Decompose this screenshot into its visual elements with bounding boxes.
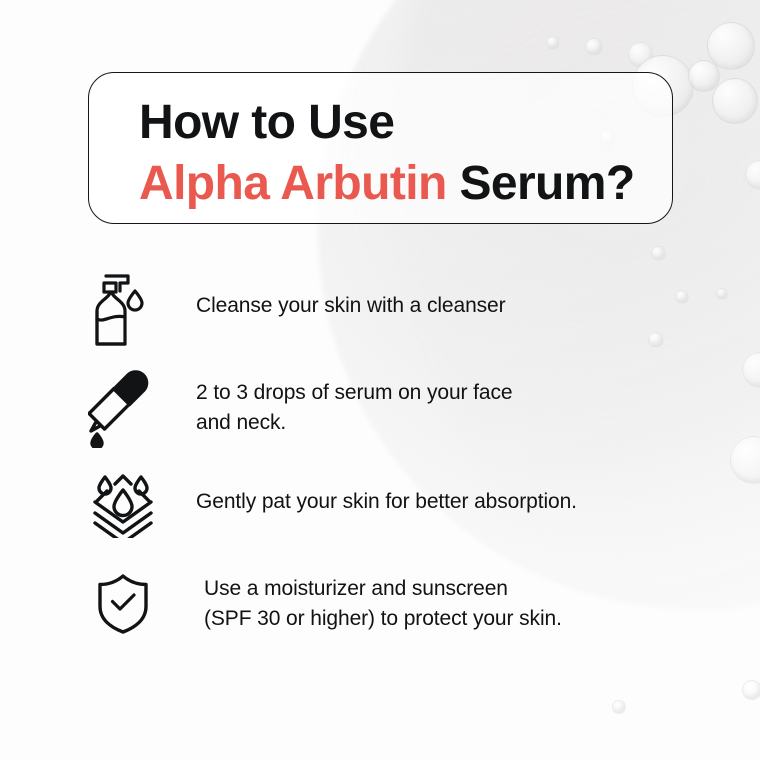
title-card: How to Use Alpha Arbutin Serum? [88,72,673,224]
absorption-layers-icon [88,464,168,548]
list-item-text: Use a moisturizer and sunscreen (SPF 30 … [204,562,562,634]
list-item-text: Cleanse your skin with a cleanser [196,268,506,321]
water-droplet-icon [612,700,626,714]
water-droplet-icon [707,22,755,70]
page-title-accent: Alpha Arbutin [139,157,447,210]
title-text-block: How to Use Alpha Arbutin Serum? [139,93,652,215]
dropper-icon [88,366,168,450]
list-item: Use a moisturizer and sunscreen (SPF 30 … [0,562,760,660]
water-droplet-icon [628,42,654,68]
pump-bottle-icon [88,268,168,352]
list-item: 2 to 3 drops of serum on your face and n… [0,366,760,464]
list-item-text: Gently pat your skin for better absorpti… [196,464,577,517]
list-item: Cleanse your skin with a cleanser [0,268,760,366]
water-droplet-icon [712,78,758,124]
step-line-1: Use a moisturizer and sunscreen [204,577,508,600]
step-line-1: Gently pat your skin for better absorpti… [196,490,577,513]
water-droplet-icon [651,246,666,261]
shield-check-icon [96,562,176,646]
water-droplet-icon [585,38,603,56]
list-item-text: 2 to 3 drops of serum on your face and n… [196,366,512,438]
water-droplet-icon [688,60,720,92]
step-line-1: 2 to 3 drops of serum on your face [196,381,512,404]
water-droplet-icon [546,36,560,50]
step-line-2: and neck. [196,408,512,438]
step-line-1: Cleanse your skin with a cleanser [196,294,506,317]
page-title-suffix: Serum? [447,157,635,210]
step-line-2: (SPF 30 or higher) to protect your skin. [204,604,562,634]
poster-canvas: How to Use Alpha Arbutin Serum? [0,0,760,760]
water-droplet-icon [745,160,760,190]
steps-list: Cleanse your skin with a cleanser [0,268,760,660]
page-title-line-1: How to Use [139,93,652,154]
water-droplet-icon [742,680,760,700]
list-item: Gently pat your skin for better absorpti… [0,464,760,562]
page-title-line-2: Alpha Arbutin Serum? [139,154,652,215]
